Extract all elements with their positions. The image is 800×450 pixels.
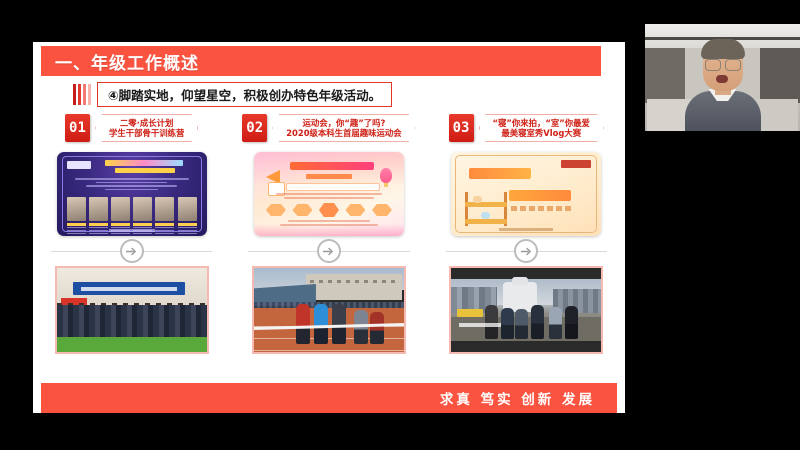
column-02-heading-line1: 运动会，你“趣”了吗? <box>303 118 386 128</box>
content-columns: 01 二零·成长计划 学生干部骨干训练营 <box>33 110 625 410</box>
slide-title-bar: 一、年级工作概述 <box>41 46 601 76</box>
dorm-vlog-outdoor-photo <box>449 266 603 354</box>
column-03-header: 03 “寝”你来拍，“室”你最爱 最美寝室秀Vlog大赛 <box>449 114 604 142</box>
column-03: 03 “寝”你来拍，“室”你最爱 最美寝室秀Vlog大赛 <box>428 110 625 410</box>
growth-plan-training-camp-poster <box>57 152 207 236</box>
column-01-header: 01 二零·成长计划 学生干部骨干训练营 <box>65 114 198 142</box>
slide-footer-bar: 求真 笃实 创新 发展 <box>41 383 617 413</box>
column-03-ribbon: “寝”你来拍，“室”你最爱 最美寝室秀Vlog大赛 <box>479 114 604 142</box>
subtitle-box: ④脚踏实地，仰望星空，积极创办特色年级活动。 <box>97 82 392 107</box>
arrow-right-circle-icon <box>514 239 538 263</box>
column-01-connector <box>33 236 230 266</box>
presentation-slide: 一、年级工作概述 ④脚踏实地，仰望星空，积极创办特色年级活动。 01 二零·成长… <box>33 42 625 413</box>
presenter-webcam-feed[interactable] <box>625 0 800 131</box>
glasses-icon <box>705 59 741 69</box>
dorm-vlog-contest-poster <box>451 152 601 236</box>
column-03-number: 03 <box>449 114 474 142</box>
page-title: 一、年级工作概述 <box>55 49 199 74</box>
screen-canvas: 一、年级工作概述 ④脚踏实地，仰望星空，积极创办特色年级活动。 01 二零·成长… <box>0 0 800 450</box>
arrow-right-circle-icon <box>120 239 144 263</box>
subtitle-text: ④脚踏实地，仰望星空，积极创办特色年级活动。 <box>108 88 381 103</box>
column-03-heading-line2: 最美寝室秀Vlog大赛 <box>501 128 581 138</box>
presenter-figure <box>685 49 761 131</box>
column-02-ribbon: 运动会，你“趣”了吗? 2020级本科生首届趣味运动会 <box>272 114 415 142</box>
fun-sports-meet-poster <box>254 152 404 236</box>
column-01-heading-line1: 二零·成长计划 <box>120 118 173 128</box>
column-01-heading-line2: 学生干部骨干训练营 <box>109 128 184 138</box>
column-02: 02 运动会，你“趣”了吗? 2020级本科生首届趣味运动会 <box>230 110 427 410</box>
arrow-right-circle-icon <box>317 239 341 263</box>
column-01-ribbon: 二零·成长计划 学生干部骨干训练营 <box>95 114 198 142</box>
subtitle-row: ④脚踏实地，仰望星空，积极创办特色年级活动。 <box>73 82 392 106</box>
training-camp-group-photo <box>55 266 209 354</box>
column-02-heading-line2: 2020级本科生首届趣味运动会 <box>286 128 401 138</box>
webcam-video-area <box>645 24 800 131</box>
column-02-header: 02 运动会，你“趣”了吗? 2020级本科生首届趣味运动会 <box>242 114 415 142</box>
column-01: 01 二零·成长计划 学生干部骨干训练营 <box>33 110 230 410</box>
column-01-number: 01 <box>65 114 90 142</box>
sports-track-group-photo <box>252 266 406 354</box>
column-02-number: 02 <box>242 114 267 142</box>
footer-motto: 求真 笃实 创新 发展 <box>440 388 595 408</box>
column-03-connector <box>428 236 625 266</box>
red-bars-decoration <box>73 84 91 105</box>
column-03-heading-line1: “寝”你来拍，“室”你最爱 <box>493 118 590 128</box>
column-02-connector <box>230 236 427 266</box>
